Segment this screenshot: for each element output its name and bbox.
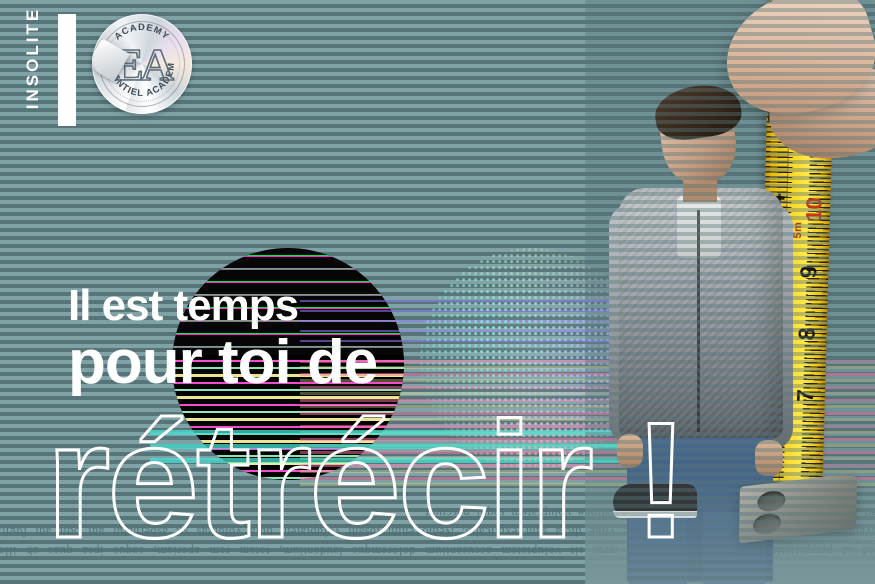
person-left-shoe	[613, 484, 697, 518]
person-left-leg	[629, 512, 687, 584]
tape-red-number-10: 10	[803, 197, 826, 222]
photo-subject-with-tape: 6 5 4 3 2 1 10 9 8 7 16FEET 5m	[585, 0, 875, 584]
headline-block: Il est temps pour toi de	[68, 286, 377, 392]
person-left-hand	[617, 434, 643, 468]
poster-canvas: Sed ut perspiciatis unde omnis iste natu…	[0, 0, 875, 584]
logo-badge[interactable]: ACADEMY ESSENTIEL ACADEMY EA	[92, 14, 192, 114]
tape-hook-hole-2	[753, 512, 781, 536]
tape-hook-hole-1	[757, 489, 785, 513]
person-right-hand	[755, 440, 783, 476]
category-kicker: INSOLITE	[23, 3, 43, 113]
headline-line-1: Il est temps	[68, 286, 377, 326]
brand-block: INSOLITE ACADEMY ESSENTIEL ACADEMY EA	[0, 0, 210, 140]
headline-line-2: pour toi de	[68, 334, 377, 391]
tape-number-9: 9	[797, 265, 820, 278]
person-zipper	[697, 210, 700, 432]
kicker-divider-bar	[58, 14, 76, 126]
